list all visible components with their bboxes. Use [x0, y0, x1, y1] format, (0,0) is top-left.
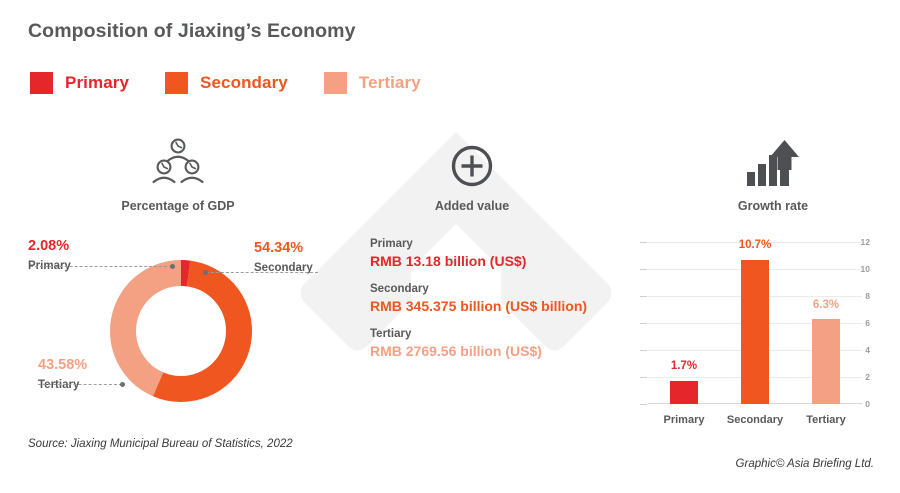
bar-category-primary: Primary — [664, 414, 705, 426]
infographic-root: Composition of Jiaxing’s Economy Primary… — [0, 0, 900, 493]
bar-value-primary: 1.7% — [671, 360, 697, 372]
bar-value-tertiary: 6.3% — [813, 299, 839, 311]
donut-callout-secondary: 54.34% Secondary — [254, 240, 313, 276]
bar-chart-plot-area: 1.7% 10.7% 6.3% Primary Secondary Tertia… — [648, 242, 862, 404]
leader-dot-primary — [170, 264, 175, 269]
donut-label-tertiary: Tertiary — [38, 378, 87, 393]
legend-label-tertiary: Tertiary — [359, 73, 421, 93]
added-value-amount-secondary: RMB 345.375 billion (US$ billion) — [370, 298, 620, 314]
legend-item-primary: Primary — [30, 72, 129, 94]
added-value-list: Primary RMB 13.18 billion (US$) Secondar… — [370, 238, 620, 373]
added-value-row-primary: Primary RMB 13.18 billion (US$) — [370, 238, 620, 269]
added-value-amount-tertiary: RMB 2769.56 billion (US$) — [370, 343, 620, 359]
growth-arrow-icon — [746, 138, 800, 190]
panel-caption-gdp: Percentage of GDP — [78, 199, 278, 213]
leader-line-secondary — [206, 272, 318, 273]
credit-note: Graphic© Asia Briefing Ltd. — [736, 458, 874, 470]
people-group-icon — [146, 138, 210, 190]
added-value-label-secondary: Secondary — [370, 283, 620, 295]
legend: Primary Secondary Tertiary — [30, 72, 457, 94]
legend-swatch-secondary — [165, 72, 188, 94]
added-value-label-primary: Primary — [370, 238, 620, 250]
legend-item-tertiary: Tertiary — [324, 72, 421, 94]
source-note: Source: Jiaxing Municipal Bureau of Stat… — [28, 438, 293, 450]
donut-value-tertiary: 43.58% — [38, 357, 87, 374]
bar-category-secondary: Secondary — [727, 414, 783, 426]
y-tick-mark-6 — [640, 323, 647, 324]
bar-primary — [670, 381, 698, 404]
plus-circle-icon — [450, 144, 494, 188]
bar-secondary — [741, 260, 769, 405]
growth-rate-bar-chart: 12 10 8 6 4 2 0 1.7% 10.7% 6.3% Primar — [612, 236, 870, 426]
legend-swatch-primary — [30, 72, 53, 94]
donut-callout-primary: 2.08% Primary — [28, 238, 71, 274]
legend-item-secondary: Secondary — [165, 72, 288, 94]
donut-callout-tertiary: 43.58% Tertiary — [38, 357, 87, 393]
added-value-amount-primary: RMB 13.18 billion (US$) — [370, 253, 620, 269]
legend-swatch-tertiary — [324, 72, 347, 94]
panel-caption-growth: Growth rate — [693, 199, 853, 213]
leader-dot-secondary — [203, 270, 208, 275]
donut-label-secondary: Secondary — [254, 261, 313, 276]
y-tick-mark-10 — [640, 269, 647, 270]
panel-caption-added-value: Added value — [392, 199, 552, 213]
added-value-row-secondary: Secondary RMB 345.375 billion (US$ billi… — [370, 283, 620, 314]
donut-value-primary: 2.08% — [28, 238, 71, 255]
leader-line-tertiary — [38, 384, 122, 385]
legend-label-primary: Primary — [65, 73, 129, 93]
donut-value-secondary: 54.34% — [254, 240, 313, 257]
y-tick-mark-2 — [640, 377, 647, 378]
y-tick-mark-12 — [640, 242, 647, 243]
y-tick-mark-8 — [640, 296, 647, 297]
added-value-label-tertiary: Tertiary — [370, 328, 620, 340]
bar-value-secondary: 10.7% — [739, 239, 772, 251]
bar-category-tertiary: Tertiary — [806, 414, 846, 426]
page-title: Composition of Jiaxing’s Economy — [28, 20, 356, 43]
y-tick-mark-4 — [640, 350, 647, 351]
bar-tertiary — [812, 319, 840, 404]
added-value-row-tertiary: Tertiary RMB 2769.56 billion (US$) — [370, 328, 620, 359]
y-tick-mark-0 — [640, 404, 647, 405]
leader-dot-tertiary — [120, 382, 125, 387]
leader-line-primary — [30, 266, 172, 267]
legend-label-secondary: Secondary — [200, 73, 288, 93]
